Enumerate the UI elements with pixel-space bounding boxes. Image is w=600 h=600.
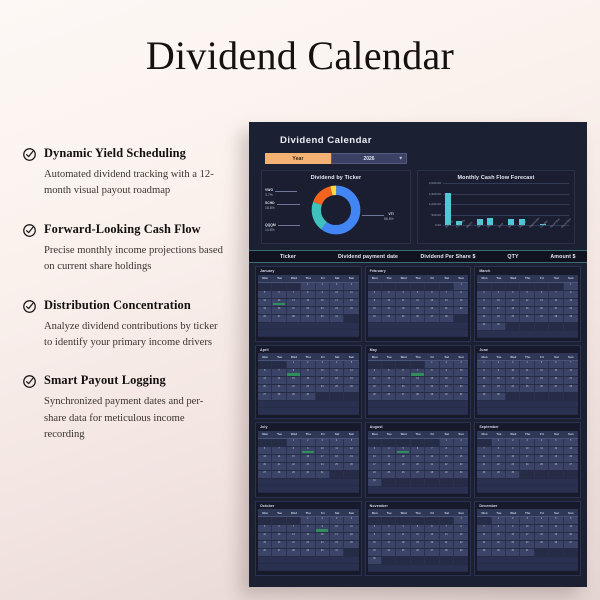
calendar-day-cell[interactable]: 1 [454, 517, 468, 524]
calendar-day-cell[interactable]: 20 [258, 463, 272, 470]
calendar-day-cell[interactable]: 1 [492, 517, 506, 524]
calendar-day-cell[interactable]: 31 [330, 549, 344, 556]
calendar-day-cell[interactable]: 3 [368, 447, 382, 454]
calendar-day-cell[interactable]: 4 [535, 439, 549, 446]
calendar-day-cell[interactable]: 7 [411, 369, 425, 376]
calendar-day-cell[interactable]: 3 [382, 525, 396, 532]
calendar-day-cell[interactable]: 1 [564, 283, 578, 290]
calendar-day-cell[interactable]: 29 [425, 393, 439, 400]
calendar-day-cell[interactable]: 16 [368, 541, 382, 548]
calendar-day-cell[interactable]: 9 [301, 447, 315, 454]
calendar-day-cell[interactable]: 22 [454, 307, 468, 314]
calendar-day-cell[interactable]: 6 [258, 447, 272, 454]
calendar-day-cell[interactable]: 15 [492, 533, 506, 540]
calendar-day-cell[interactable]: 8 [564, 291, 578, 298]
calendar-day-cell[interactable]: 15 [492, 455, 506, 462]
calendar-day-cell[interactable]: 21 [477, 541, 491, 548]
calendar-day-cell[interactable]: 18 [535, 533, 549, 540]
calendar-day-cell[interactable]: 5 [549, 517, 563, 524]
calendar-day-cell[interactable]: 8 [301, 291, 315, 298]
calendar-day-cell[interactable]: 2 [477, 291, 491, 298]
calendar-day-cell[interactable]: 15 [454, 299, 468, 306]
calendar-day-cell[interactable]: 21 [440, 307, 454, 314]
calendar-day-cell[interactable]: 4 [344, 517, 358, 524]
calendar-day-cell[interactable]: 25 [368, 393, 382, 400]
calendar-day-cell[interactable]: 24 [520, 463, 534, 470]
calendar-day-cell[interactable]: 23 [368, 549, 382, 556]
calendar-day-cell[interactable]: 9 [506, 447, 520, 454]
calendar-day-cell[interactable]: 26 [258, 315, 272, 322]
calendar-day-cell[interactable]: 19 [549, 533, 563, 540]
calendar-day-cell[interactable]: 7 [440, 291, 454, 298]
calendar-day-cell[interactable]: 13 [258, 455, 272, 462]
calendar-day-cell[interactable]: 18 [382, 463, 396, 470]
calendar-day-cell[interactable]: 23 [316, 307, 330, 314]
calendar-day-cell[interactable]: 29 [301, 549, 315, 556]
calendar-day-cell[interactable]: 5 [344, 361, 358, 368]
calendar-day-cell[interactable]: 14 [564, 369, 578, 376]
calendar-day-cell[interactable]: 18 [396, 541, 410, 548]
calendar-day-cell[interactable]: 2 [492, 361, 506, 368]
calendar-day-cell[interactable]: 27 [258, 471, 272, 478]
calendar-day-cell[interactable]: 9 [440, 369, 454, 376]
calendar-day-cell[interactable]: 18 [396, 307, 410, 314]
calendar-day-cell[interactable]: 7 [440, 525, 454, 532]
calendar-day-cell[interactable]: 27 [564, 463, 578, 470]
calendar-day-cell[interactable]: 26 [258, 549, 272, 556]
calendar-day-cell[interactable]: 19 [382, 385, 396, 392]
calendar-day-cell[interactable]: 8 [425, 369, 439, 376]
calendar-day-cell[interactable]: 6 [564, 517, 578, 524]
calendar-day-cell[interactable]: 9 [492, 369, 506, 376]
calendar-day-cell[interactable]: 24 [506, 385, 520, 392]
calendar-day-cell[interactable]: 16 [492, 377, 506, 384]
calendar-day-cell[interactable]: 16 [506, 455, 520, 462]
calendar-day-cell[interactable]: 11 [330, 369, 344, 376]
calendar-day-cell[interactable]: 13 [535, 299, 549, 306]
calendar-day-cell[interactable]: 4 [396, 525, 410, 532]
calendar-day-cell[interactable]: 1 [301, 517, 315, 524]
calendar-day-cell[interactable]: 10 [506, 369, 520, 376]
calendar-day-cell[interactable]: 30 [492, 393, 506, 400]
calendar-day-cell[interactable]: 18 [344, 299, 358, 306]
calendar-day-cell[interactable]: 23 [368, 315, 382, 322]
calendar-day-cell[interactable]: 29 [440, 471, 454, 478]
calendar-day-cell[interactable]: 28 [425, 471, 439, 478]
calendar-day-cell[interactable]: 1 [301, 283, 315, 290]
calendar-day-cell[interactable]: 2 [454, 439, 468, 446]
calendar-day-cell[interactable]: 14 [411, 377, 425, 384]
calendar-day-cell[interactable]: 17 [492, 307, 506, 314]
calendar-day-cell[interactable]: 10 [316, 369, 330, 376]
calendar-day-cell[interactable]: 15 [287, 377, 301, 384]
calendar-day-cell[interactable]: 1 [425, 361, 439, 368]
calendar-day-cell[interactable]: 23 [506, 463, 520, 470]
calendar-day-cell[interactable]: 5 [382, 369, 396, 376]
calendar-day-cell[interactable]: 16 [368, 307, 382, 314]
calendar-day-cell[interactable]: 17 [454, 377, 468, 384]
calendar-day-cell[interactable]: 21 [564, 377, 578, 384]
calendar-day-cell[interactable]: 25 [330, 385, 344, 392]
calendar-day-cell[interactable]: 20 [258, 385, 272, 392]
calendar-day-cell[interactable]: 30 [316, 549, 330, 556]
calendar-day-cell[interactable]: 27 [564, 541, 578, 548]
calendar-day-cell[interactable]: 17 [382, 541, 396, 548]
calendar-day-cell[interactable]: 2 [506, 517, 520, 524]
calendar-day-cell[interactable]: 27 [258, 393, 272, 400]
calendar-day-cell[interactable]: 10 [382, 533, 396, 540]
calendar-day-cell[interactable]: 6 [411, 447, 425, 454]
calendar-day-cell[interactable]: 3 [492, 291, 506, 298]
calendar-day-cell[interactable]: 8 [287, 447, 301, 454]
calendar-day-cell[interactable]: 26 [344, 463, 358, 470]
calendar-day-cell[interactable]: 17 [368, 463, 382, 470]
calendar-day-cell[interactable]: 12 [258, 533, 272, 540]
calendar-day-cell[interactable]: 15 [454, 533, 468, 540]
calendar-day-cell[interactable]: 23 [316, 541, 330, 548]
calendar-day-cell[interactable]: 20 [535, 307, 549, 314]
calendar-day-cell[interactable]: 14 [440, 299, 454, 306]
calendar-day-cell[interactable]: 10 [368, 455, 382, 462]
calendar-day-cell[interactable]: 3 [316, 439, 330, 446]
calendar-day-cell[interactable]: 7 [549, 291, 563, 298]
calendar-day-cell[interactable]: 30 [477, 323, 491, 330]
calendar-day-cell[interactable]: 5 [344, 439, 358, 446]
calendar-day-cell[interactable]: 28 [477, 549, 491, 556]
calendar-day-cell[interactable]: 3 [520, 439, 534, 446]
calendar-day-cell[interactable]: 7 [272, 447, 286, 454]
calendar-day-cell[interactable]: 4 [520, 361, 534, 368]
calendar-day-cell[interactable]: 6 [425, 525, 439, 532]
calendar-day-cell[interactable]: 18 [330, 455, 344, 462]
calendar-day-cell[interactable]: 5 [396, 447, 410, 454]
calendar-day-cell[interactable]: 4 [344, 283, 358, 290]
calendar-day-cell[interactable]: 30 [316, 315, 330, 322]
calendar-day-cell[interactable]: 9 [368, 299, 382, 306]
calendar-day-cell[interactable]: 1 [477, 361, 491, 368]
calendar-day-cell[interactable]: 4 [535, 517, 549, 524]
calendar-day-cell[interactable]: 28 [549, 315, 563, 322]
calendar-day-cell[interactable]: 1 [440, 439, 454, 446]
calendar-day-cell[interactable]: 11 [368, 377, 382, 384]
calendar-day-cell[interactable]: 13 [425, 299, 439, 306]
calendar-day-cell[interactable]: 16 [301, 377, 315, 384]
calendar-day-cell[interactable]: 28 [287, 549, 301, 556]
calendar-day-cell[interactable]: 18 [506, 307, 520, 314]
calendar-day-cell[interactable]: 20 [272, 307, 286, 314]
calendar-day-cell[interactable]: 27 [272, 315, 286, 322]
calendar-day-cell[interactable]: 2 [440, 361, 454, 368]
calendar-day-cell[interactable]: 29 [287, 393, 301, 400]
calendar-day-cell[interactable]: 12 [258, 299, 272, 306]
calendar-day-cell[interactable]: 12 [535, 369, 549, 376]
calendar-day-cell[interactable]: 30 [506, 549, 520, 556]
calendar-day-cell[interactable]: 15 [440, 455, 454, 462]
calendar-day-cell[interactable]: 14 [425, 455, 439, 462]
calendar-day-cell[interactable]: 31 [520, 549, 534, 556]
calendar-day-cell[interactable]: 26 [549, 463, 563, 470]
calendar-day-cell[interactable]: 19 [344, 377, 358, 384]
calendar-day-cell[interactable]: 14 [477, 455, 491, 462]
calendar-day-cell[interactable]: 2 [506, 439, 520, 446]
calendar-day-cell[interactable]: 8 [477, 369, 491, 376]
calendar-day-cell[interactable]: 29 [454, 549, 468, 556]
calendar-day-cell[interactable]: 21 [425, 463, 439, 470]
calendar-day-cell[interactable]: 13 [272, 533, 286, 540]
calendar-day-cell[interactable]: 5 [520, 291, 534, 298]
calendar-day-cell[interactable]: 10 [330, 525, 344, 532]
calendar-day-cell[interactable]: 8 [492, 525, 506, 532]
calendar-day-cell[interactable]: 10 [520, 447, 534, 454]
calendar-day-cell[interactable]: 22 [425, 385, 439, 392]
calendar-day-cell[interactable]: 28 [477, 471, 491, 478]
calendar-day-cell[interactable]: 20 [425, 541, 439, 548]
calendar-day-cell[interactable]: 2 [368, 291, 382, 298]
calendar-day-cell[interactable]: 6 [425, 291, 439, 298]
calendar-day-cell[interactable]: 24 [454, 385, 468, 392]
calendar-day-cell[interactable]: 25 [520, 385, 534, 392]
calendar-day-cell[interactable]: 7 [287, 525, 301, 532]
calendar-day-cell[interactable]: 18 [368, 385, 382, 392]
calendar-day-cell[interactable]: 6 [549, 361, 563, 368]
calendar-day-cell[interactable]: 3 [382, 291, 396, 298]
calendar-day-cell[interactable]: 29 [477, 393, 491, 400]
calendar-day-cell[interactable]: 30 [368, 557, 382, 564]
calendar-day-cell[interactable]: 15 [564, 299, 578, 306]
calendar-day-cell[interactable]: 17 [316, 455, 330, 462]
calendar-day-cell[interactable]: 8 [454, 525, 468, 532]
calendar-day-cell[interactable]: 19 [258, 541, 272, 548]
calendar-day-cell[interactable]: 22 [440, 463, 454, 470]
calendar-day-cell[interactable]: 2 [368, 525, 382, 532]
calendar-day-cell[interactable]: 24 [368, 471, 382, 478]
calendar-day-cell[interactable]: 10 [492, 299, 506, 306]
calendar-day-cell[interactable]: 29 [564, 315, 578, 322]
calendar-day-cell[interactable]: 31 [454, 393, 468, 400]
calendar-day-cell[interactable]: 6 [272, 291, 286, 298]
calendar-day-cell[interactable]: 11 [382, 455, 396, 462]
calendar-day-cell[interactable]: 26 [411, 315, 425, 322]
calendar-day-cell[interactable]: 26 [396, 471, 410, 478]
calendar-day-cell[interactable]: 19 [411, 541, 425, 548]
calendar-day-cell[interactable]: 16 [316, 299, 330, 306]
calendar-day-cell[interactable]: 6 [272, 525, 286, 532]
calendar-day-cell[interactable]: 13 [425, 533, 439, 540]
calendar-day-cell[interactable]: 22 [454, 541, 468, 548]
calendar-day-cell[interactable]: 9 [368, 533, 382, 540]
calendar-day-cell[interactable]: 9 [316, 525, 330, 532]
calendar-day-cell[interactable]: 28 [287, 315, 301, 322]
calendar-day-cell[interactable]: 23 [301, 463, 315, 470]
calendar-day-cell[interactable]: 11 [535, 525, 549, 532]
calendar-day-cell[interactable]: 5 [258, 291, 272, 298]
calendar-day-cell[interactable]: 26 [411, 549, 425, 556]
calendar-day-cell[interactable]: 12 [411, 533, 425, 540]
calendar-day-cell[interactable]: 29 [301, 315, 315, 322]
year-select[interactable]: 2026 ▾ [331, 153, 407, 164]
calendar-day-cell[interactable]: 30 [506, 471, 520, 478]
calendar-day-cell[interactable]: 11 [344, 525, 358, 532]
calendar-day-cell[interactable]: 13 [411, 455, 425, 462]
calendar-day-cell[interactable]: 1 [492, 439, 506, 446]
calendar-day-cell[interactable]: 16 [301, 455, 315, 462]
calendar-day-cell[interactable]: 28 [272, 393, 286, 400]
calendar-day-cell[interactable]: 5 [411, 291, 425, 298]
calendar-day-cell[interactable]: 16 [316, 533, 330, 540]
calendar-day-cell[interactable]: 23 [301, 385, 315, 392]
calendar-day-cell[interactable]: 18 [330, 377, 344, 384]
calendar-day-cell[interactable]: 17 [330, 299, 344, 306]
calendar-day-cell[interactable]: 4 [396, 291, 410, 298]
calendar-day-cell[interactable]: 13 [258, 377, 272, 384]
calendar-day-cell[interactable]: 12 [520, 299, 534, 306]
calendar-day-cell[interactable]: 14 [477, 533, 491, 540]
calendar-day-cell[interactable]: 18 [520, 377, 534, 384]
calendar-day-cell[interactable]: 9 [506, 525, 520, 532]
calendar-day-cell[interactable]: 7 [477, 525, 491, 532]
calendar-day-cell[interactable]: 20 [396, 385, 410, 392]
calendar-day-cell[interactable]: 15 [477, 377, 491, 384]
calendar-day-cell[interactable]: 5 [535, 361, 549, 368]
calendar-day-cell[interactable]: 1 [287, 439, 301, 446]
calendar-day-cell[interactable]: 20 [564, 455, 578, 462]
calendar-day-cell[interactable]: 16 [454, 455, 468, 462]
calendar-day-cell[interactable]: 14 [272, 455, 286, 462]
calendar-day-cell[interactable]: 21 [411, 385, 425, 392]
calendar-day-cell[interactable]: 19 [520, 307, 534, 314]
calendar-day-cell[interactable]: 13 [396, 377, 410, 384]
calendar-day-cell[interactable]: 31 [316, 471, 330, 478]
calendar-day-cell[interactable]: 8 [492, 447, 506, 454]
calendar-day-cell[interactable]: 6 [396, 369, 410, 376]
calendar-day-cell[interactable]: 24 [382, 315, 396, 322]
calendar-day-cell[interactable]: 6 [535, 291, 549, 298]
calendar-day-cell[interactable]: 16 [506, 533, 520, 540]
calendar-day-cell[interactable]: 3 [330, 283, 344, 290]
calendar-day-cell[interactable]: 3 [506, 361, 520, 368]
calendar-day-cell[interactable]: 19 [411, 307, 425, 314]
calendar-day-cell[interactable]: 24 [316, 385, 330, 392]
calendar-day-cell[interactable]: 16 [477, 307, 491, 314]
calendar-day-cell[interactable]: 31 [492, 323, 506, 330]
calendar-day-cell[interactable]: 25 [396, 549, 410, 556]
calendar-day-cell[interactable]: 26 [520, 315, 534, 322]
calendar-day-cell[interactable]: 23 [454, 463, 468, 470]
calendar-day-cell[interactable]: 21 [272, 385, 286, 392]
calendar-day-cell[interactable]: 16 [440, 377, 454, 384]
calendar-day-cell[interactable]: 25 [535, 541, 549, 548]
calendar-day-cell[interactable]: 15 [287, 455, 301, 462]
calendar-day-cell[interactable]: 26 [549, 541, 563, 548]
calendar-day-cell[interactable]: 7 [272, 369, 286, 376]
calendar-day-cell[interactable]: 10 [520, 525, 534, 532]
calendar-day-cell[interactable]: 11 [506, 299, 520, 306]
calendar-day-cell[interactable]: 24 [520, 541, 534, 548]
calendar-day-cell[interactable]: 7 [287, 291, 301, 298]
calendar-day-cell[interactable]: 25 [382, 471, 396, 478]
calendar-day-cell[interactable]: 12 [549, 447, 563, 454]
calendar-day-cell[interactable]: 12 [411, 299, 425, 306]
calendar-day-cell[interactable]: 20 [272, 541, 286, 548]
calendar-day-cell[interactable]: 11 [396, 299, 410, 306]
calendar-day-cell[interactable]: 23 [492, 385, 506, 392]
calendar-day-cell[interactable]: 14 [440, 533, 454, 540]
calendar-day-cell[interactable]: 21 [477, 463, 491, 470]
calendar-day-cell[interactable]: 19 [344, 455, 358, 462]
calendar-day-cell[interactable]: 10 [382, 299, 396, 306]
calendar-day-cell[interactable]: 19 [549, 455, 563, 462]
calendar-day-cell[interactable]: 12 [344, 447, 358, 454]
calendar-day-cell[interactable]: 17 [520, 533, 534, 540]
calendar-day-cell[interactable]: 21 [287, 541, 301, 548]
calendar-day-cell[interactable]: 17 [506, 377, 520, 384]
calendar-day-cell[interactable]: 27 [396, 393, 410, 400]
calendar-day-cell[interactable]: 9 [316, 291, 330, 298]
calendar-day-cell[interactable]: 21 [272, 463, 286, 470]
calendar-day-cell[interactable]: 25 [344, 541, 358, 548]
calendar-day-cell[interactable]: 11 [396, 533, 410, 540]
calendar-day-cell[interactable]: 4 [382, 447, 396, 454]
calendar-day-cell[interactable]: 30 [301, 471, 315, 478]
calendar-day-cell[interactable]: 8 [287, 369, 301, 376]
calendar-day-cell[interactable]: 25 [535, 463, 549, 470]
calendar-day-cell[interactable]: 7 [564, 361, 578, 368]
calendar-day-cell[interactable]: 27 [425, 315, 439, 322]
calendar-day-cell[interactable]: 17 [330, 533, 344, 540]
calendar-day-cell[interactable]: 22 [301, 541, 315, 548]
calendar-day-cell[interactable]: 4 [368, 369, 382, 376]
calendar-day-cell[interactable]: 25 [506, 315, 520, 322]
calendar-day-cell[interactable]: 27 [411, 471, 425, 478]
calendar-day-cell[interactable]: 17 [316, 377, 330, 384]
calendar-day-cell[interactable]: 2 [301, 439, 315, 446]
calendar-day-cell[interactable]: 14 [287, 299, 301, 306]
calendar-day-cell[interactable]: 11 [330, 447, 344, 454]
calendar-day-cell[interactable]: 31 [330, 315, 344, 322]
calendar-day-cell[interactable]: 20 [564, 533, 578, 540]
calendar-day-cell[interactable]: 7 [477, 447, 491, 454]
calendar-day-cell[interactable]: 23 [506, 541, 520, 548]
calendar-day-cell[interactable]: 22 [564, 307, 578, 314]
calendar-day-cell[interactable]: 10 [330, 291, 344, 298]
calendar-day-cell[interactable]: 2 [316, 517, 330, 524]
calendar-day-cell[interactable]: 14 [549, 299, 563, 306]
calendar-day-cell[interactable]: 19 [258, 307, 272, 314]
calendar-day-cell[interactable]: 30 [301, 393, 315, 400]
calendar-day-cell[interactable]: 24 [330, 307, 344, 314]
calendar-day-cell[interactable]: 22 [301, 307, 315, 314]
calendar-day-cell[interactable]: 28 [440, 315, 454, 322]
calendar-day-cell[interactable]: 21 [549, 307, 563, 314]
calendar-day-cell[interactable]: 9 [477, 299, 491, 306]
calendar-day-cell[interactable]: 20 [425, 307, 439, 314]
calendar-day-cell[interactable]: 19 [396, 463, 410, 470]
calendar-day-cell[interactable]: 6 [564, 439, 578, 446]
calendar-day-cell[interactable]: 31 [368, 479, 382, 486]
calendar-day-cell[interactable]: 30 [454, 471, 468, 478]
calendar-day-cell[interactable]: 12 [382, 377, 396, 384]
calendar-day-cell[interactable]: 8 [301, 525, 315, 532]
calendar-day-cell[interactable]: 17 [382, 307, 396, 314]
calendar-day-cell[interactable]: 17 [520, 455, 534, 462]
calendar-day-cell[interactable]: 13 [564, 525, 578, 532]
calendar-day-cell[interactable]: 27 [272, 549, 286, 556]
calendar-day-cell[interactable]: 23 [477, 315, 491, 322]
calendar-day-cell[interactable]: 26 [535, 385, 549, 392]
calendar-day-cell[interactable]: 28 [411, 393, 425, 400]
calendar-day-cell[interactable]: 15 [301, 533, 315, 540]
calendar-day-cell[interactable]: 29 [492, 471, 506, 478]
